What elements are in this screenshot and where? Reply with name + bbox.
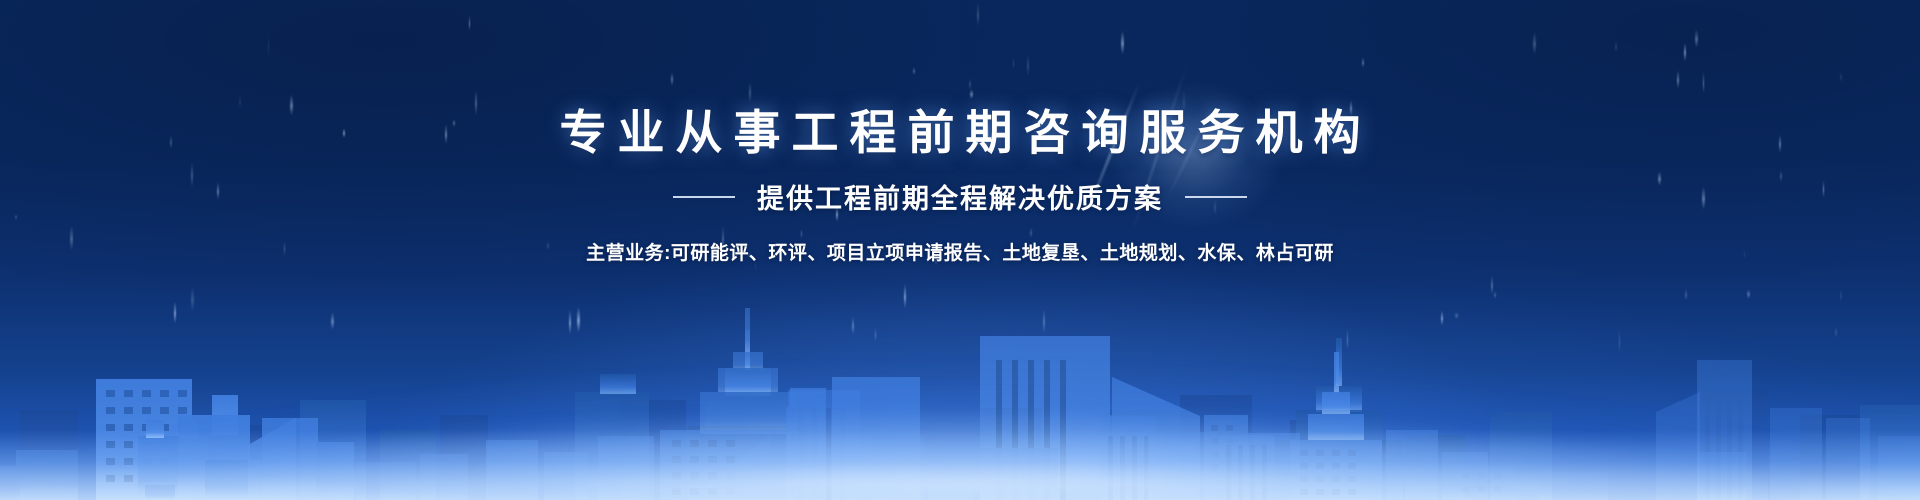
subheadline-row: 提供工程前期全程解决优质方案 bbox=[673, 177, 1247, 216]
particle-icon bbox=[1702, 186, 1705, 210]
particle-icon bbox=[836, 206, 838, 222]
particle-icon bbox=[913, 67, 916, 75]
lens-flare-icon bbox=[1080, 60, 1310, 250]
particle-icon bbox=[290, 94, 293, 116]
banner-headline: 专业从事工程前期咨询服务机构 bbox=[549, 108, 1372, 157]
particle-icon bbox=[986, 121, 989, 148]
particle-icon bbox=[1214, 198, 1216, 217]
particle-icon bbox=[671, 72, 673, 87]
particle-icon bbox=[1615, 40, 1617, 54]
particle-icon bbox=[1362, 57, 1364, 68]
particle-icon bbox=[1533, 31, 1536, 55]
left-rule-icon bbox=[673, 196, 735, 198]
flare-streak-icon bbox=[1166, 100, 1216, 200]
particle-icon bbox=[1779, 134, 1781, 152]
particle-icon bbox=[1013, 57, 1015, 69]
particle-icon bbox=[1027, 53, 1029, 77]
hero-banner: 专业从事工程前期咨询服务机构 提供工程前期全程解决优质方案 主营业务:可研能评、… bbox=[0, 0, 1920, 500]
particle-icon bbox=[1030, 227, 1033, 238]
particle-icon bbox=[268, 34, 269, 59]
particle-icon bbox=[1121, 30, 1124, 55]
particle-icon bbox=[801, 229, 803, 238]
particle-icon bbox=[1106, 125, 1108, 142]
particle-icon bbox=[445, 124, 447, 144]
particle-icon bbox=[1695, 29, 1698, 48]
particle-icon bbox=[969, 78, 971, 90]
particle-icon bbox=[1658, 171, 1661, 185]
particle-icon bbox=[1703, 71, 1705, 94]
particle-icon bbox=[970, 89, 972, 99]
particle-icon bbox=[15, 214, 17, 220]
particle-icon bbox=[1823, 180, 1824, 198]
particle-icon bbox=[1780, 170, 1782, 182]
particle-icon bbox=[702, 129, 705, 138]
particle-icon bbox=[1677, 70, 1679, 89]
particle-icon bbox=[1183, 89, 1185, 115]
particle-icon bbox=[453, 119, 455, 127]
particle-icon bbox=[1684, 42, 1686, 62]
skyline-near-layer bbox=[0, 308, 1920, 500]
particle-icon bbox=[469, 15, 471, 31]
particle-icon bbox=[749, 81, 752, 103]
particle-icon bbox=[343, 128, 345, 138]
particle-icon bbox=[239, 95, 241, 108]
particle-icon bbox=[977, 1, 979, 27]
particle-icon bbox=[1350, 100, 1353, 116]
flare-streak-icon bbox=[1130, 64, 1188, 236]
particle-icon bbox=[475, 89, 477, 116]
city-skyline bbox=[0, 240, 1920, 500]
flare-streak-icon bbox=[1086, 83, 1140, 214]
particle-icon bbox=[170, 135, 172, 149]
particle-icon bbox=[1840, 72, 1842, 82]
banner-subheadline: 提供工程前期全程解决优质方案 bbox=[757, 177, 1163, 216]
particle-icon bbox=[217, 182, 219, 200]
particle-icon bbox=[191, 161, 193, 188]
right-rule-icon bbox=[1185, 196, 1247, 198]
